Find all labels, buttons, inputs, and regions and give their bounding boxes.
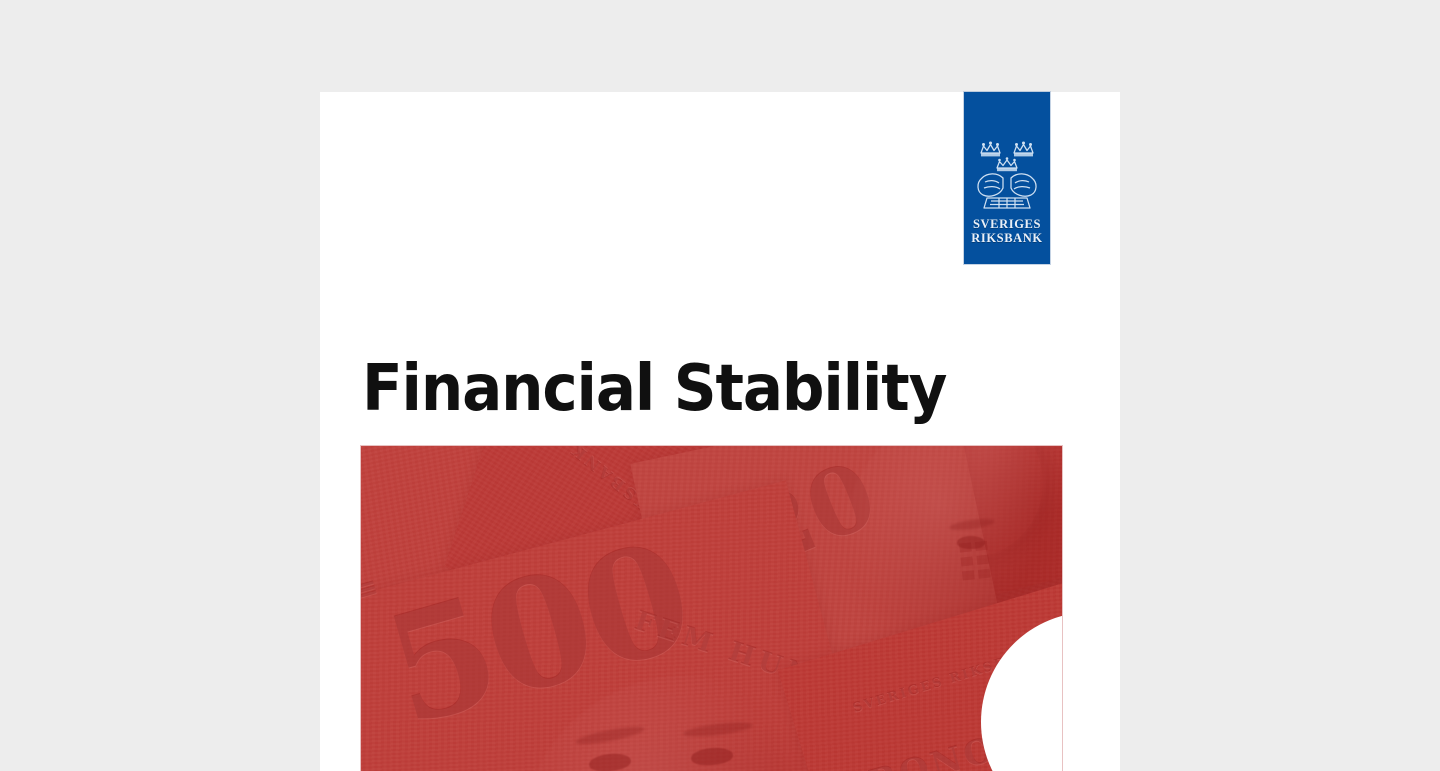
document-viewport: SVERIGES RIKSBANK Financial Stability ||… (0, 0, 1440, 771)
cover-photo: ||| SVERIGES RIKSBANK 20 (361, 446, 1062, 771)
three-crowns-lions-emblem (973, 136, 1041, 216)
banknote-security-block (959, 541, 993, 584)
page-title: Financial Stability (362, 354, 946, 424)
logo-wordmark-line-2: RIKSBANK (964, 232, 1050, 246)
logo-wordmark-line-1: SVERIGES (964, 218, 1050, 232)
logo-wordmark: SVERIGES RIKSBANK (964, 218, 1050, 245)
sveriges-riksbank-logo: SVERIGES RIKSBANK (964, 92, 1050, 264)
document-page: SVERIGES RIKSBANK Financial Stability ||… (320, 92, 1120, 771)
